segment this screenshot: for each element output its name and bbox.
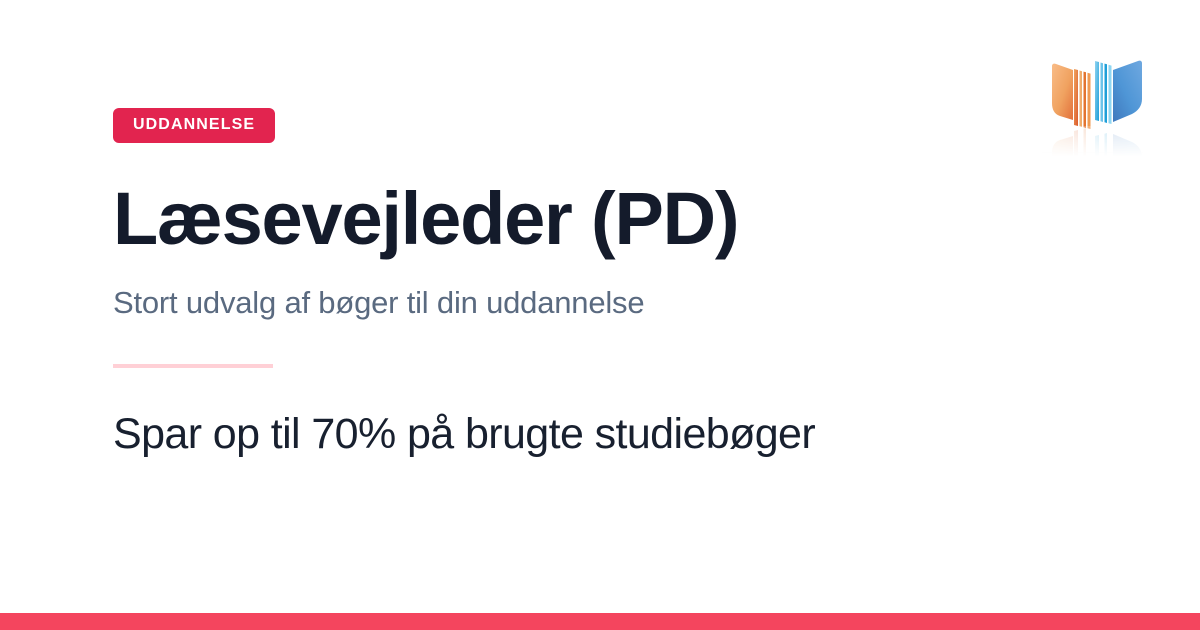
og-card: UDDANNELSE Læsevejleder (PD) Stort udval… <box>0 0 1200 630</box>
category-badge: UDDANNELSE <box>113 108 275 143</box>
content-column: UDDANNELSE Læsevejleder (PD) Stort udval… <box>113 108 1073 460</box>
promo-tagline: Spar op til 70% på brugte studiebøger <box>113 410 1073 459</box>
page-subtitle: Stort udvalg af bøger til din uddannelse <box>113 284 1073 321</box>
page-title: Læsevejleder (PD) <box>113 181 1073 258</box>
divider <box>113 364 273 368</box>
bottom-accent-bar <box>0 613 1200 630</box>
